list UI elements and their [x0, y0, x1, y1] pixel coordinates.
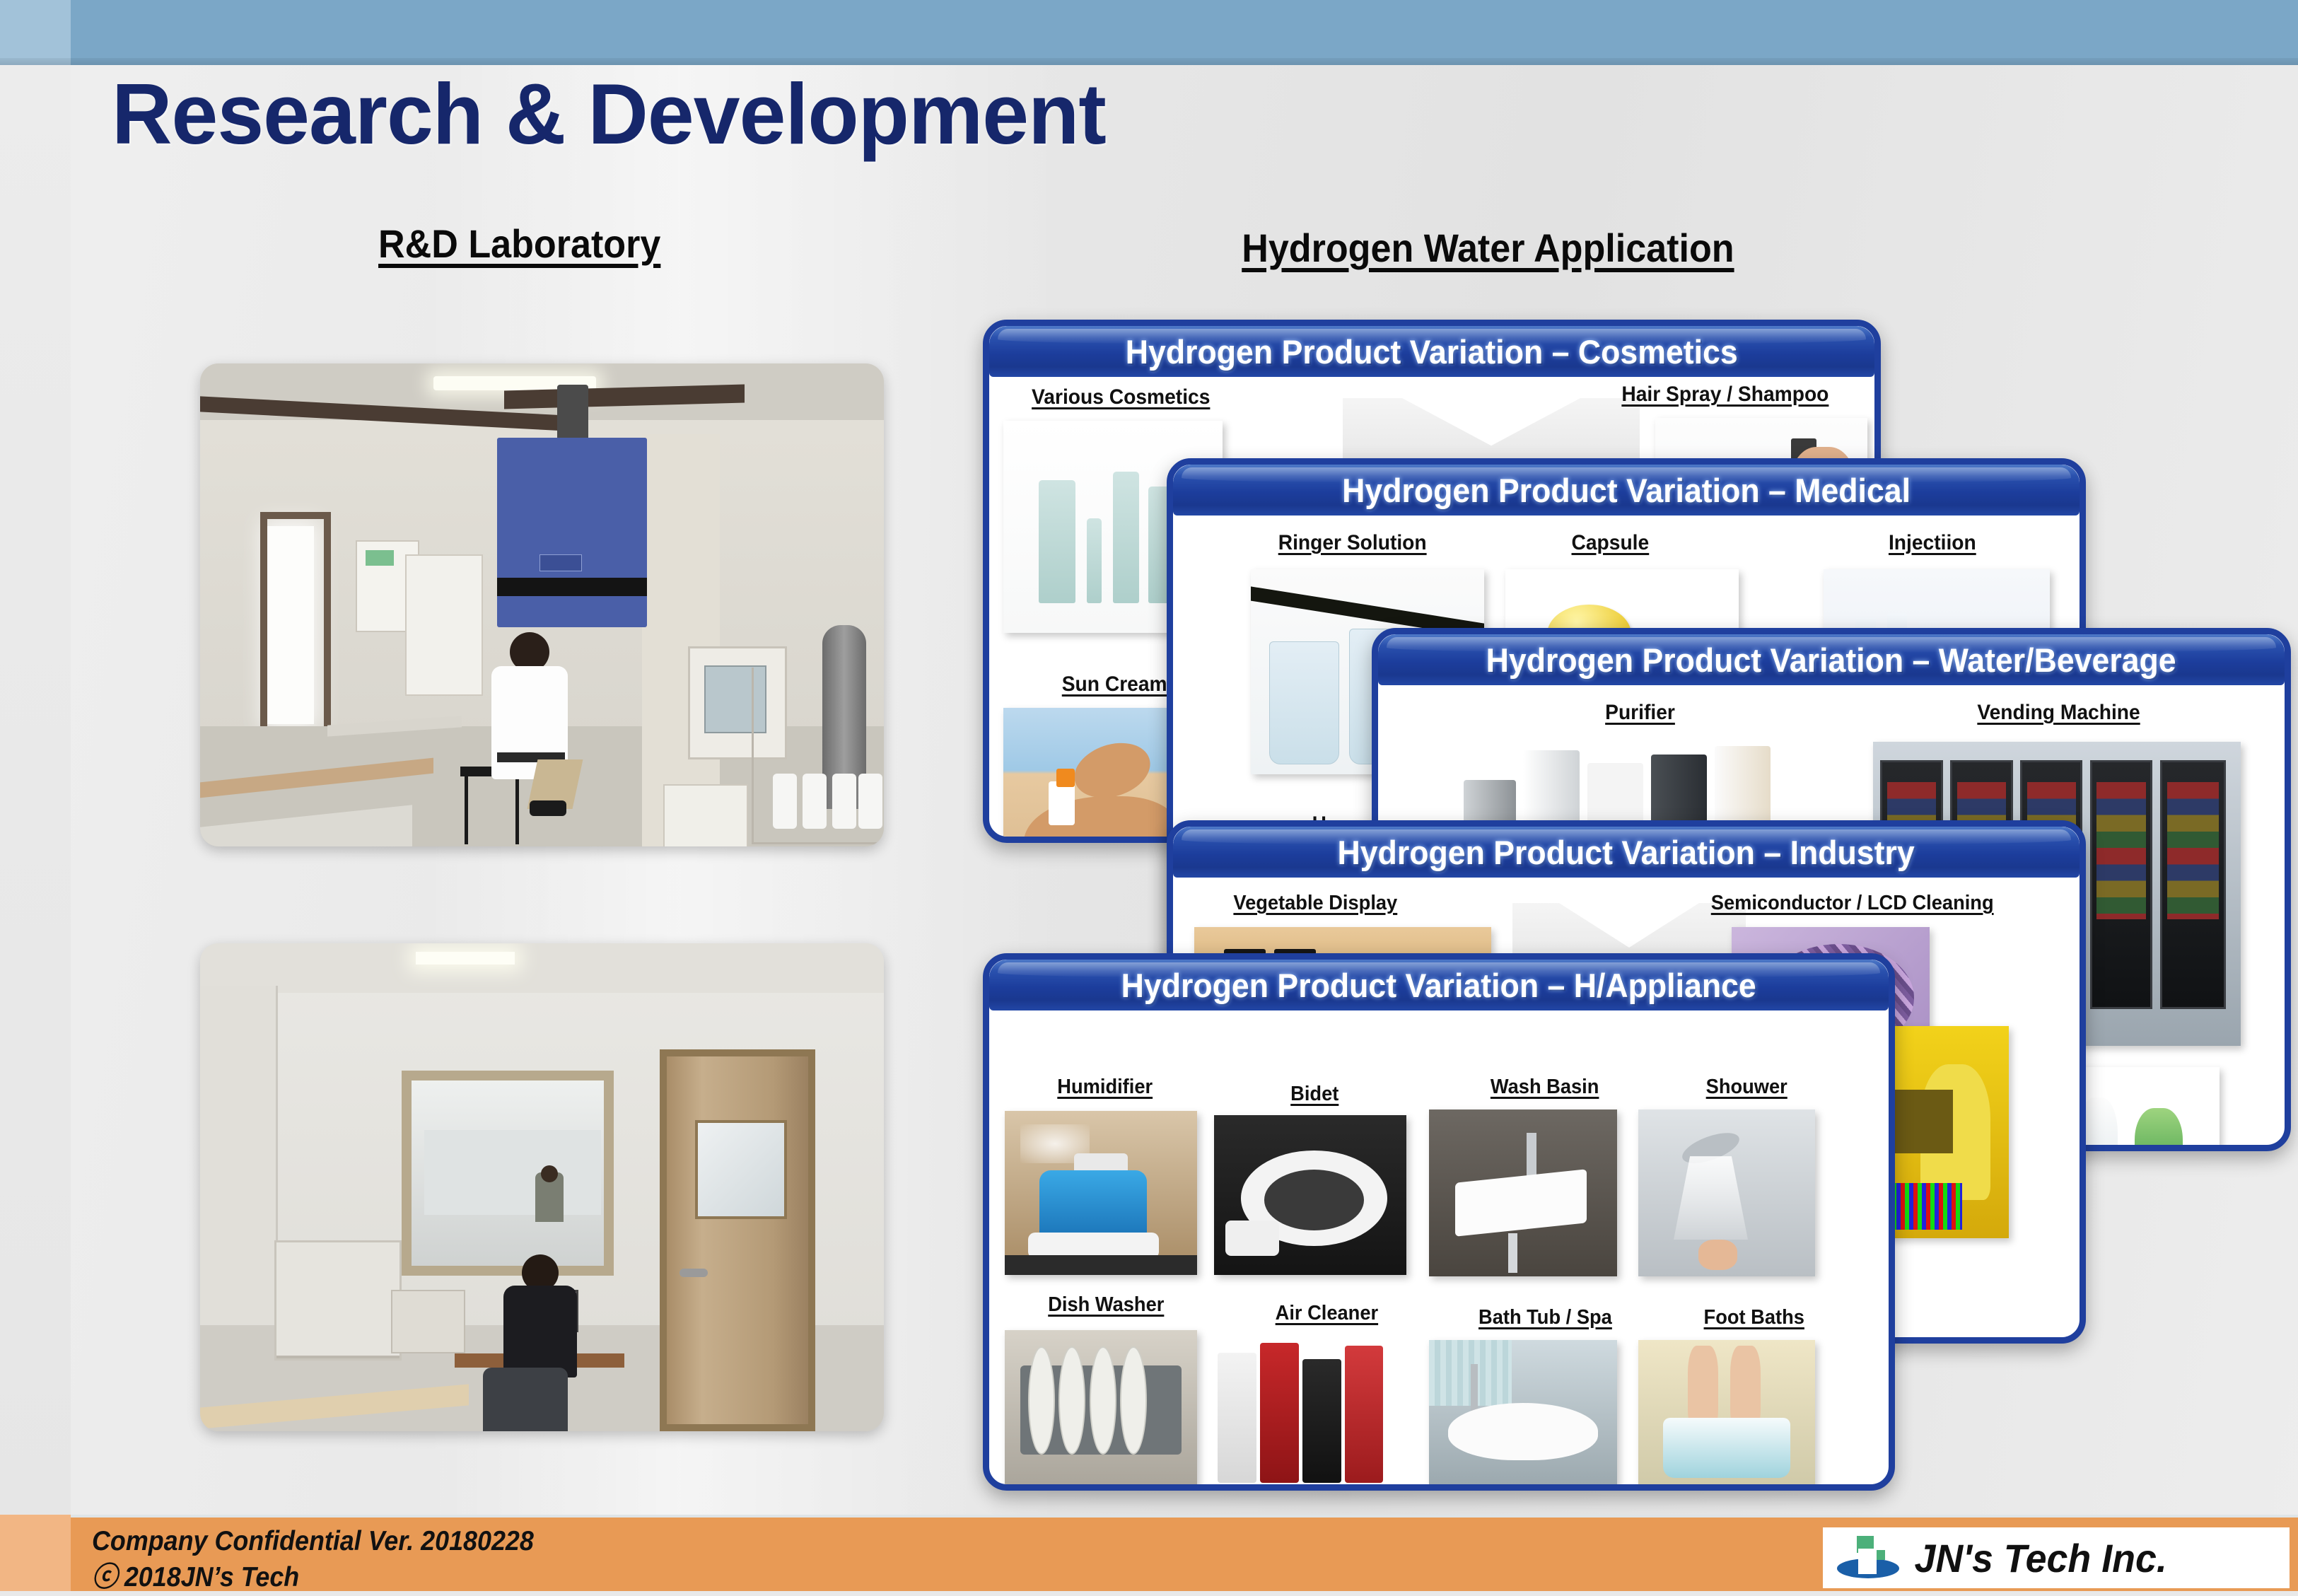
product-label-vending-machine: Vending Machine: [1977, 701, 2140, 725]
background-left-strip: [0, 0, 71, 1591]
photo-lab-office-workstation: [200, 943, 884, 1431]
product-label-semiconductor-lcd-cleaning: Semiconductor / LCD Cleaning: [1711, 892, 1994, 915]
card-title-industry: Hydrogen Product Variation – Industry: [1338, 833, 1915, 872]
product-label-capsule: Capsule: [1572, 531, 1650, 555]
product-image-bidet: [1214, 1115, 1406, 1275]
footer-top-rule: [0, 1515, 2298, 1518]
product-image-wash-basin: [1429, 1109, 1617, 1276]
confidentiality-line-1: Company Confidential Ver. 20180228: [92, 1523, 534, 1559]
card-title-h-appliance: Hydrogen Product Variation – H/Appliance: [1121, 966, 1756, 1005]
card-hydrogen-product-variation-h-appliance[interactable]: Hydrogen Product Variation – H/Appliance…: [983, 953, 1895, 1491]
product-label-injectiion: Injectiion: [1889, 531, 1976, 555]
card-body-h-appliance: Humidifier Bidet Wash Basin Shouwer Dish…: [989, 1010, 1889, 1484]
product-label-various-cosmetics: Various Cosmetics: [1032, 385, 1210, 409]
product-image-shower-head: [1638, 1109, 1815, 1276]
photo-lab-fume-hood-researcher: [200, 363, 884, 846]
confidentiality-line-2: ⓒ 2018JN’s Tech: [92, 1559, 534, 1595]
product-label-vegetable-display: Vegetable Display: [1233, 892, 1397, 915]
product-label-hair-spray-shampoo: Hair Spray / Shampoo: [1622, 383, 1829, 407]
product-label-dish-washer: Dish Washer: [1048, 1293, 1164, 1317]
slide-canvas: Research & Development R&D Laboratory Hy…: [0, 0, 2298, 1591]
product-label-foot-baths: Foot Baths: [1704, 1306, 1804, 1329]
section-heading-rd-laboratory: R&D Laboratory: [378, 221, 660, 267]
product-label-wash-basin: Wash Basin: [1491, 1076, 1599, 1099]
product-label-sun-cream: Sun Cream: [1062, 672, 1167, 697]
confidentiality-notice: Company Confidential Ver. 20180228 ⓒ 201…: [92, 1523, 534, 1596]
section-heading-hydrogen-water-application: Hydrogen Water Application: [1242, 225, 1734, 271]
top-band-shadow: [0, 58, 2298, 65]
product-image-dishwasher: [1005, 1330, 1197, 1490]
jns-tech-logo-icon: [1837, 1536, 1899, 1580]
product-label-bath-tub-spa: Bath Tub / Spa: [1478, 1306, 1612, 1329]
card-header-cosmetics: Hydrogen Product Variation – Cosmetics: [989, 326, 1874, 377]
card-title-cosmetics: Hydrogen Product Variation – Cosmetics: [1126, 332, 1738, 371]
product-label-purifier: Purifier: [1605, 701, 1675, 725]
top-band: [0, 0, 2298, 65]
product-image-foot-bath: [1638, 1340, 1815, 1490]
card-header-h-appliance: Hydrogen Product Variation – H/Appliance: [989, 960, 1889, 1010]
product-image-humidifier: [1005, 1111, 1197, 1275]
product-label-shouwer: Shouwer: [1706, 1076, 1787, 1099]
footer-left-accent: [0, 1515, 71, 1591]
page-title: Research & Development: [112, 71, 1106, 157]
top-band-left-accent: [0, 0, 71, 65]
card-header-medical: Hydrogen Product Variation – Medical: [1173, 465, 2080, 516]
company-logo-text: JN's Tech Inc.: [1914, 1535, 2166, 1581]
company-logo: JN's Tech Inc.: [1823, 1527, 2290, 1588]
product-label-bidet: Bidet: [1290, 1083, 1338, 1106]
card-header-industry: Hydrogen Product Variation – Industry: [1173, 827, 2080, 878]
product-image-air-cleaners: [1214, 1333, 1406, 1491]
product-label-ringer-solution: Ringer Solution: [1278, 531, 1427, 555]
card-header-water-beverage: Hydrogen Product Variation – Water/Bever…: [1378, 634, 2285, 685]
product-label-humidifier: Humidifier: [1057, 1076, 1153, 1099]
card-title-medical: Hydrogen Product Variation – Medical: [1342, 471, 1911, 510]
card-title-water-beverage: Hydrogen Product Variation – Water/Bever…: [1486, 641, 2176, 680]
product-label-air-cleaner: Air Cleaner: [1276, 1302, 1378, 1325]
product-image-bath-tub: [1429, 1340, 1617, 1490]
slide-footer: Company Confidential Ver. 20180228 ⓒ 201…: [0, 1515, 2298, 1591]
